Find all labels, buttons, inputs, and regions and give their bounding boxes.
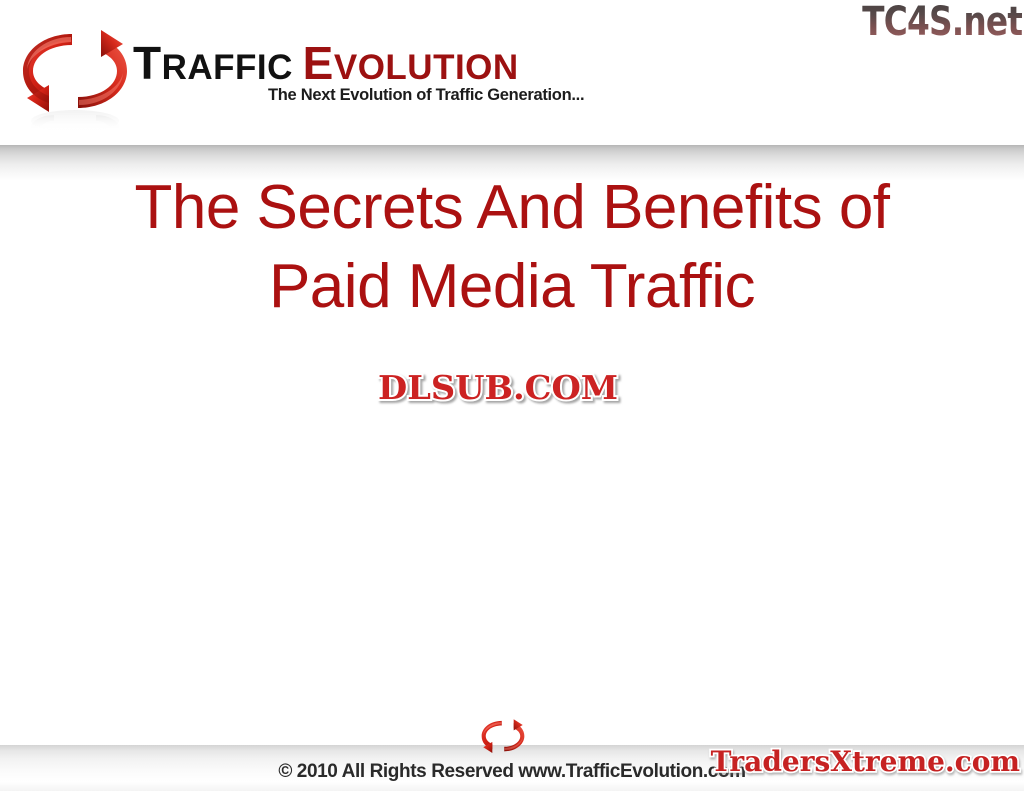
page-title: The Secrets And Benefits of Paid Media T… [62,168,962,327]
wordmark-evolution-rest: VOLUTION [334,48,519,87]
wordmark-traffic-cap: T [133,37,162,89]
tc4s-watermark: TC4S.net [862,2,1022,42]
logo-wordmark: TRAFFIC EVOLUTION [133,40,519,86]
dlsub-watermark: DLSUB.COM [378,371,618,404]
footer-swoosh-logo-icon [466,716,540,762]
traffic-evolution-swoosh-logo-icon [14,22,136,134]
tradersxtreme-watermark: TradersXtreme.com [711,748,1020,776]
wordmark-traffic-rest: RAFFIC [162,48,293,87]
wordmark-evolution-cap: E [303,37,334,89]
title-line-1: The Secrets And Benefits of [62,168,962,247]
presentation-slide: TRAFFIC EVOLUTION The Next Evolution of … [0,0,1024,791]
title-line-2: Paid Media Traffic [62,247,962,326]
logo-tagline: The Next Evolution of Traffic Generation… [268,86,584,105]
slide-header: TRAFFIC EVOLUTION The Next Evolution of … [0,0,1024,145]
